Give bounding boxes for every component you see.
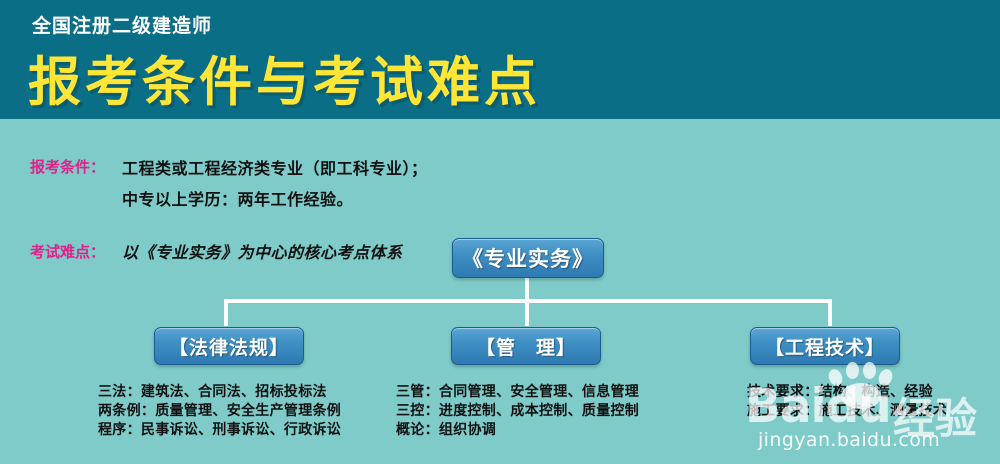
page-title: 报考条件与考试难点: [28, 40, 541, 116]
condition-line-2: 中专以上学历：两年工作经验。: [122, 186, 353, 210]
detail-line: 三控：进度控制、成本控制、质量控制: [396, 401, 639, 420]
connector-drop-middle: [525, 299, 529, 326]
difficulty-text: 以《专业实务》为中心的核心考点体系: [122, 239, 403, 263]
node-law-regulations: 【法律法规】: [154, 327, 304, 365]
detail-line: 施工要求：施工技术、测量技术: [747, 401, 947, 420]
detail-column-law: 三法：建筑法、合同法、招标投标法 两条例：质量管理、安全生产管理条例 程序：民事…: [98, 382, 341, 439]
node-management: 【管 理】: [451, 327, 601, 365]
connector-drop-right: [828, 299, 832, 326]
detail-line: 三管：合同管理、安全管理、信息管理: [396, 382, 639, 401]
condition-line-1: 工程类或工程经济类专业（即工科专业）；: [122, 155, 428, 179]
detail-line: 两条例：质量管理、安全生产管理条例: [98, 401, 341, 420]
node-engineering-technology: 【工程技术】: [750, 327, 900, 365]
header-subtitle: 全国注册二级建造师: [32, 11, 212, 38]
watermark-url: jingyan.baidu.com: [758, 429, 940, 451]
detail-column-technology: 技术要求：结构、构造、经验 施工要求：施工技术、测量技术: [747, 382, 947, 420]
detail-line: 概论：组织协调: [396, 420, 639, 439]
difficulty-label: 考试难点：: [30, 241, 105, 262]
detail-column-management: 三管：合同管理、安全管理、信息管理 三控：进度控制、成本控制、质量控制 概论：组…: [396, 382, 639, 439]
detail-line: 技术要求：结构、构造、经验: [747, 382, 947, 401]
condition-label: 报考条件：: [30, 156, 105, 177]
header-banner: 全国注册二级建造师 报考条件与考试难点: [0, 0, 1000, 119]
slide-canvas: 全国注册二级建造师 报考条件与考试难点 报考条件： 工程类或工程经济类专业（即工…: [0, 0, 1000, 464]
node-root-subject: 《专业实务》: [452, 238, 604, 278]
detail-line: 程序：民事诉讼、刑事诉讼、行政诉讼: [98, 420, 341, 439]
detail-line: 三法：建筑法、合同法、招标投标法: [98, 382, 341, 401]
connector-drop-left: [224, 299, 228, 326]
connector-stem: [525, 277, 529, 301]
